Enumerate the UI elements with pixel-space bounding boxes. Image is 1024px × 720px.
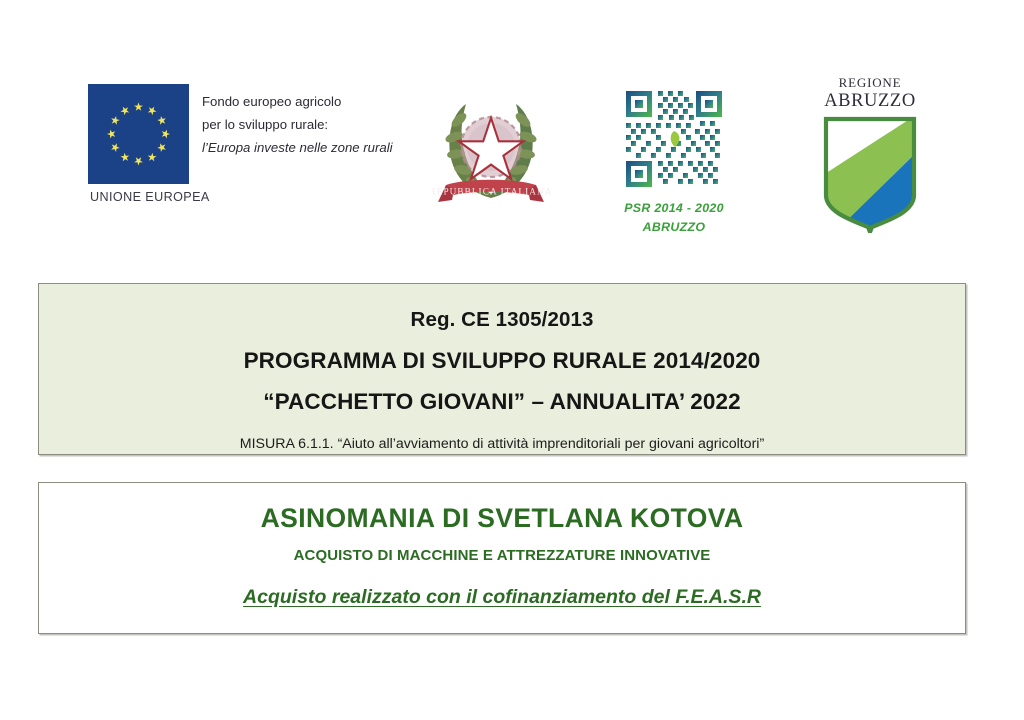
european-union-flag-icon [88, 84, 189, 184]
package-title-line: “PACCHETTO GIOVANI” – ANNUALITA’ 2022 [39, 389, 965, 415]
regione-abruzzo-title-line-1: REGIONE [805, 76, 935, 91]
measure-line: MISURA 6.1.1. “Aiuto all’avviamento di a… [39, 436, 965, 452]
eu-logo-block: Fondo europeo agricolo per lo sviluppo r… [88, 84, 398, 204]
regione-abruzzo-logo-block: REGIONE ABRUZZO [805, 76, 935, 233]
cofinancing-note: Acquisto realizzato con il cofinanziamen… [39, 586, 965, 609]
regulation-line: Reg. CE 1305/2013 [39, 308, 965, 332]
regione-abruzzo-title-line-2: ABRUZZO [805, 91, 935, 112]
programme-title-line: PROGRAMMA DI SVILUPPO RURALE 2014/2020 [39, 348, 965, 374]
beneficiary-info-panel: ASINOMANIA DI SVETLANA KOTOVA ACQUISTO D… [38, 482, 966, 634]
repubblica-italiana-emblem-icon: REPUBBLICA ITALIANA [432, 90, 550, 212]
regione-abruzzo-title: REGIONE ABRUZZO [805, 76, 935, 111]
psr-caption-line-1: PSR 2014 - 2020 [608, 199, 740, 218]
beneficiary-name: ASINOMANIA DI SVETLANA KOTOVA [39, 503, 965, 534]
eu-slogan: Fondo europeo agricolo per lo sviluppo r… [202, 84, 393, 159]
svg-text:REPUBBLICA ITALIANA: REPUBBLICA ITALIANA [432, 187, 550, 197]
psr-caption: PSR 2014 - 2020 ABRUZZO [608, 199, 740, 236]
eu-slogan-line-3: l’Europa investe nelle zone rurali [202, 136, 393, 159]
programme-info-panel: Reg. CE 1305/2013 PROGRAMMA DI SVILUPPO … [38, 283, 966, 455]
eu-slogan-line-1: Fondo europeo agricolo [202, 90, 393, 113]
logo-strip: Fondo europeo agricolo per lo sviluppo r… [0, 62, 1024, 242]
beneficiary-subtitle: ACQUISTO DI MACCHINE E ATTREZZATURE INNO… [39, 547, 965, 564]
psr-qr-code-icon [622, 87, 726, 191]
psr-logo-block: PSR 2014 - 2020 ABRUZZO [608, 87, 740, 236]
psr-caption-line-2: ABRUZZO [608, 218, 740, 237]
regione-abruzzo-shield-icon [820, 115, 920, 233]
eu-caption: UNIONE EUROPEA [90, 190, 398, 204]
eu-slogan-line-2: per lo sviluppo rurale: [202, 113, 393, 136]
eu-flag-row: Fondo europeo agricolo per lo sviluppo r… [88, 84, 398, 184]
